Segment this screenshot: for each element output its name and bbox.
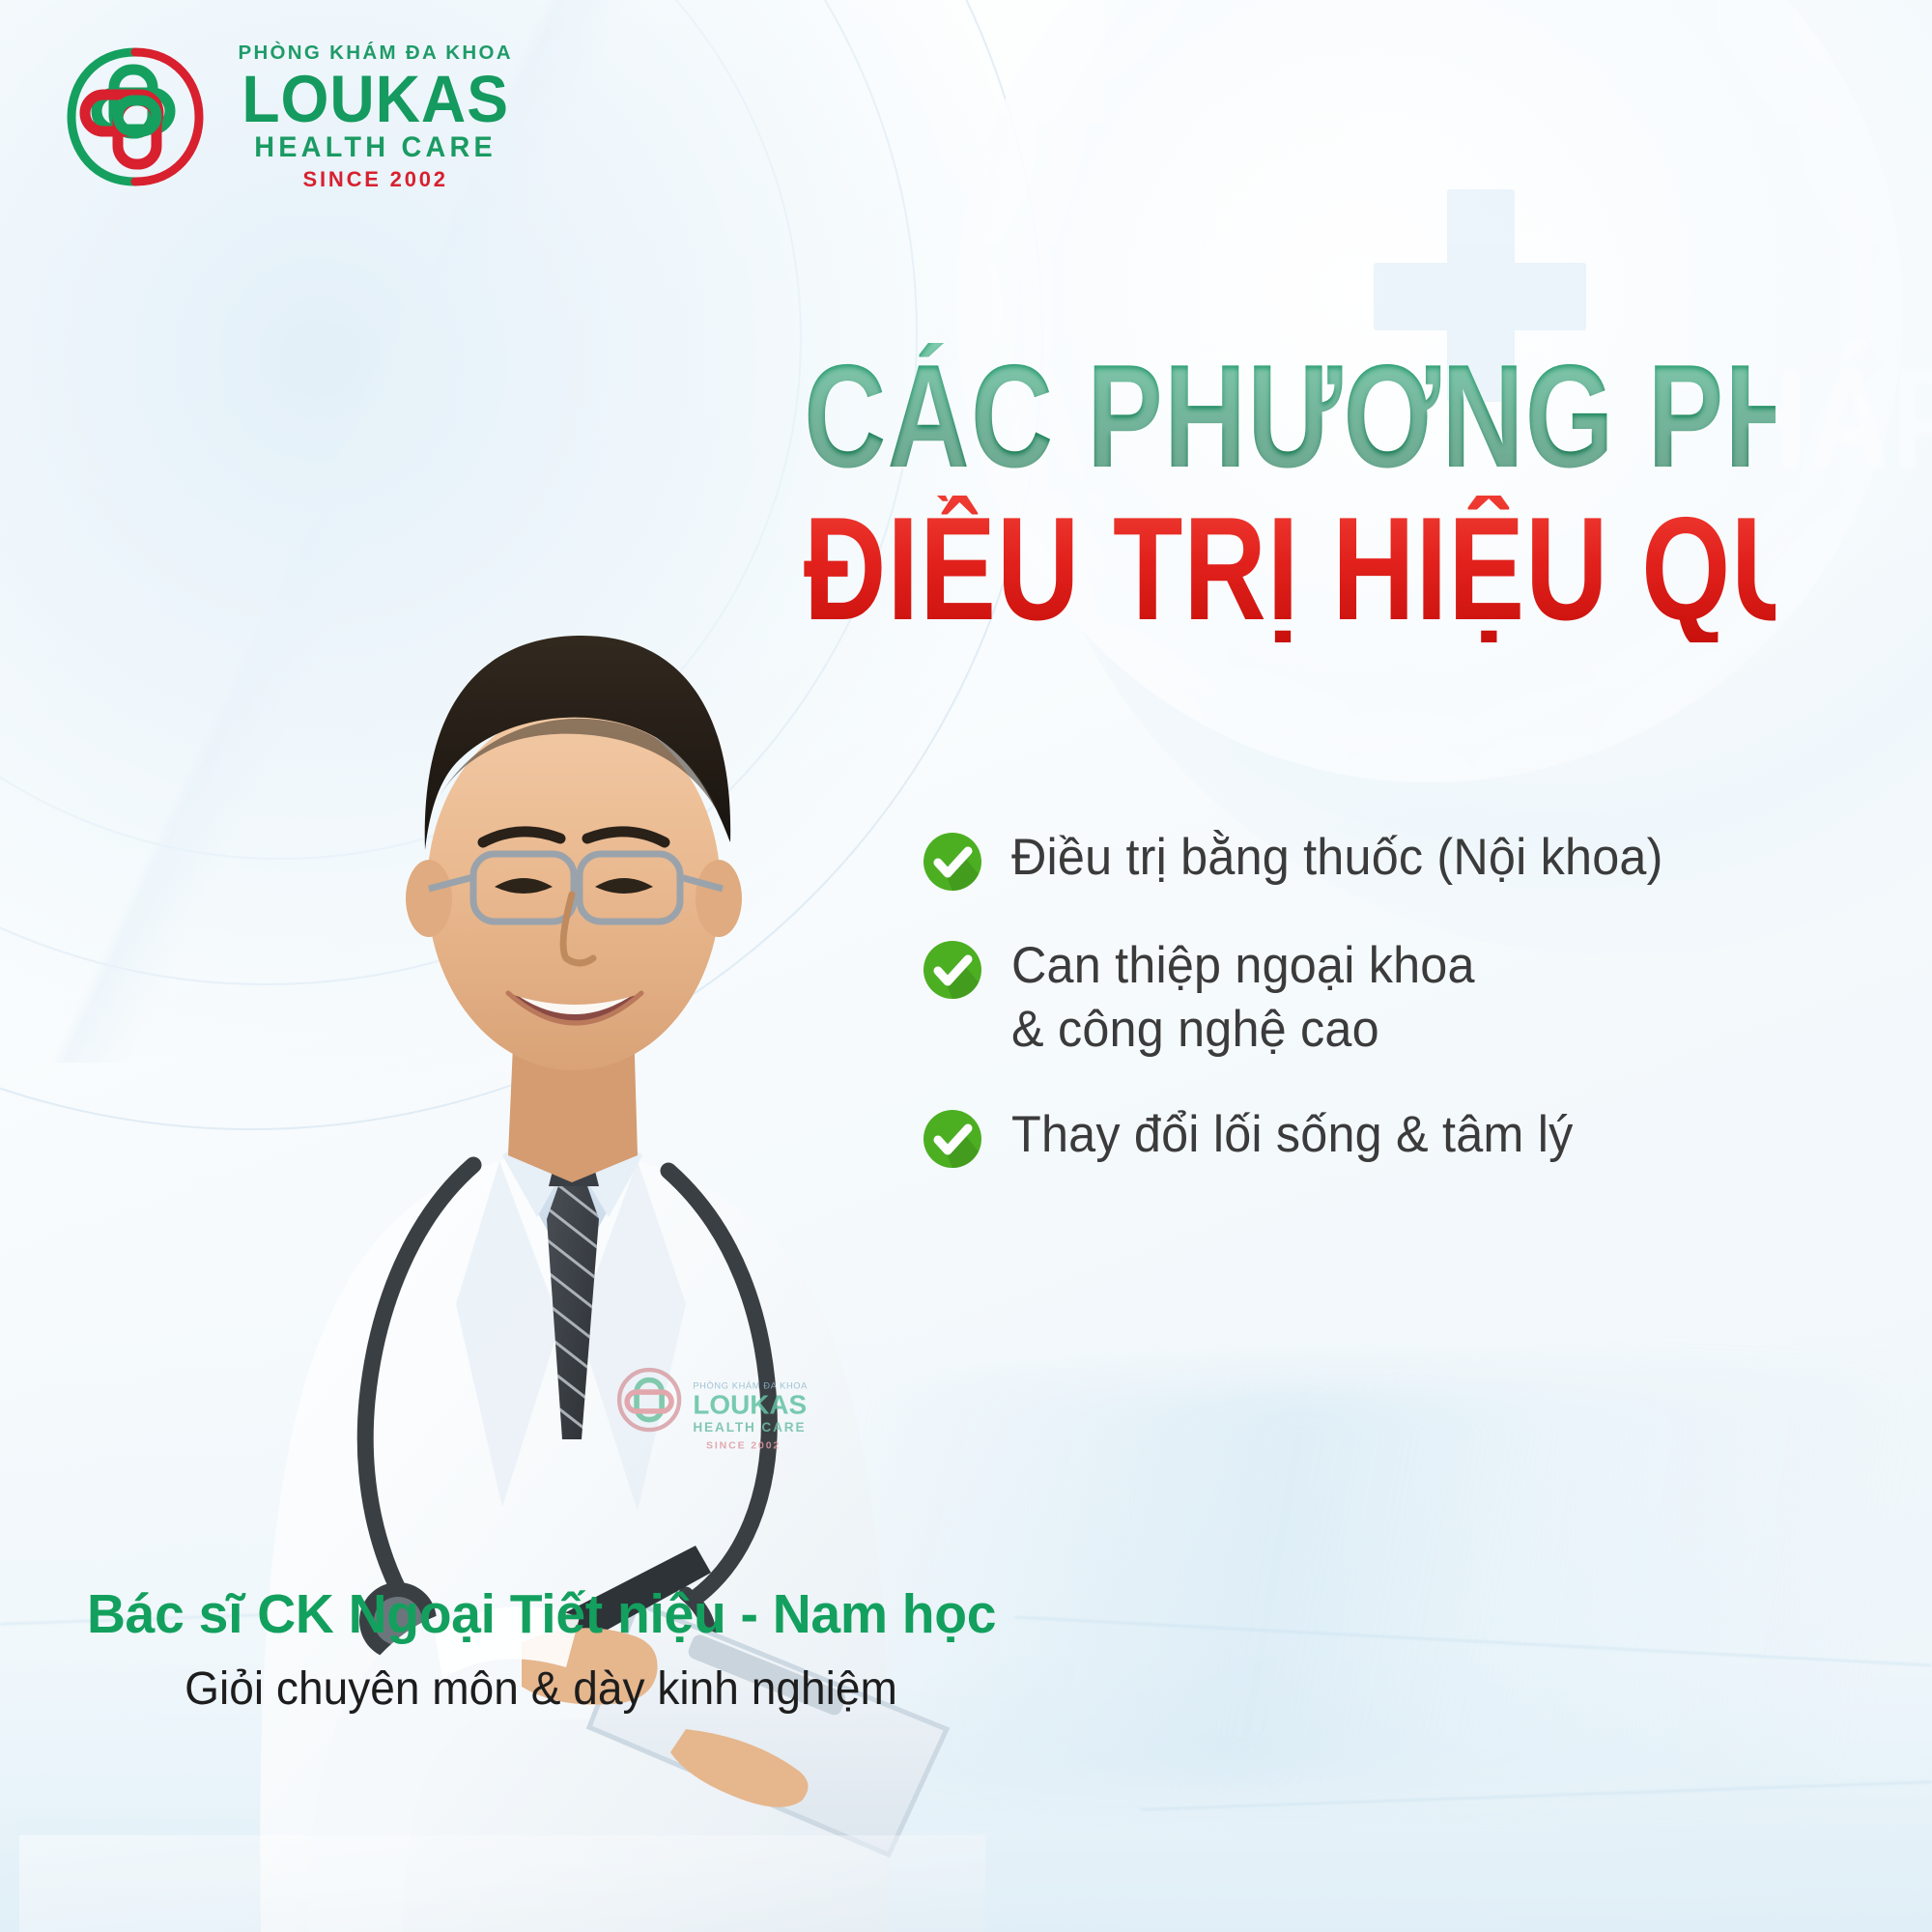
list-item: Thay đổi lối sống & tâm lý — [923, 1103, 1908, 1169]
caption-subtitle: Giỏi chuyên môn & dày kinh nghiệm — [105, 1662, 977, 1718]
headline-line-2: ĐIỀU TRỊ HIỆU QUẢ — [804, 496, 1776, 642]
poster-canvas: PHÒNG KHÁM ĐA KHOA LOUKAS HEALTH CARE SI… — [0, 0, 1932, 1932]
check-circle-icon — [923, 832, 982, 892]
brand-logo: PHÒNG KHÁM ĐA KHOA LOUKAS HEALTH CARE SI… — [58, 43, 519, 190]
check-circle-icon — [923, 940, 982, 1000]
treatment-method-list: Điều trị bằng thuốc (Nội khoa) Can thiệp… — [923, 826, 1908, 1169]
check-circle-icon — [923, 1109, 982, 1169]
svg-text:SINCE 2002: SINCE 2002 — [706, 1439, 781, 1451]
logo-kicker: PHÒNG KHÁM ĐA KHOA — [238, 43, 512, 64]
caption-title: Bác sĩ CK Ngoại Tiết niệu - Nam học — [87, 1582, 1071, 1646]
logo-since: SINCE 2002 — [303, 169, 448, 190]
doctor-caption: Bác sĩ CK Ngoại Tiết niệu - Nam học Giỏi… — [87, 1582, 1101, 1718]
list-item-label: Can thiệp ngoại khoa & công nghệ cao — [1011, 934, 1475, 1061]
list-item: Điều trị bằng thuốc (Nội khoa) — [923, 826, 1908, 892]
logo-subtitle: HEALTH CARE — [254, 133, 497, 162]
list-item: Can thiệp ngoại khoa & công nghệ cao — [923, 934, 1908, 1061]
headline-line-1: CÁC PHƯƠNG PHÁP — [804, 343, 1776, 490]
brand-logo-text: PHÒNG KHÁM ĐA KHOA LOUKAS HEALTH CARE SI… — [232, 43, 519, 190]
page-title: CÁC PHƯƠNG PHÁP ĐIỀU TRỊ HIỆU QUẢ — [667, 343, 1913, 642]
list-item-label: Điều trị bằng thuốc (Nội khoa) — [1011, 826, 1663, 890]
svg-text:HEALTH CARE: HEALTH CARE — [693, 1420, 806, 1435]
interlocking-medical-cross-icon — [58, 44, 213, 189]
list-item-label: Thay đổi lối sống & tâm lý — [1011, 1103, 1573, 1167]
logo-name: LOUKAS — [241, 68, 509, 131]
svg-text:LOUKAS: LOUKAS — [693, 1389, 807, 1419]
